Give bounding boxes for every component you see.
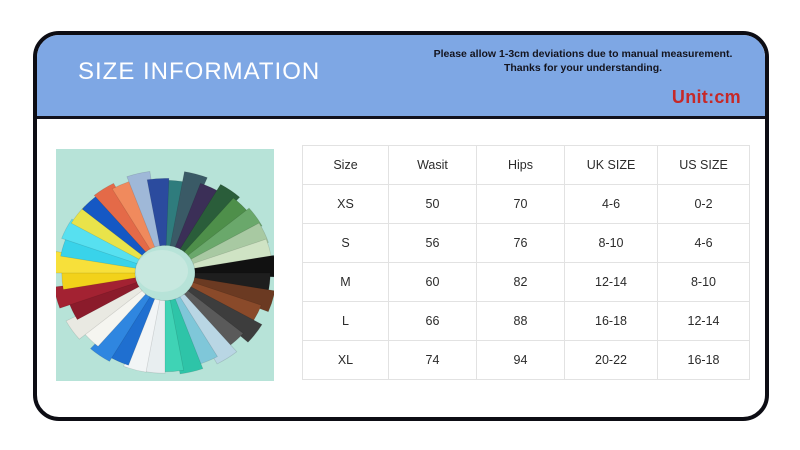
table-row: S 56 76 8-10 4-6 [303, 224, 750, 263]
unit-label: Unit:cm [672, 87, 741, 108]
table-row: XL 74 94 20-22 16-18 [303, 341, 750, 380]
cell-waist: 56 [389, 224, 477, 263]
table-row: M 60 82 12-14 8-10 [303, 263, 750, 302]
cell-hips: 94 [477, 341, 565, 380]
column-header-size: Size [303, 146, 389, 185]
disclaimer-line-1: Please allow 1-3cm deviations due to man… [434, 48, 733, 60]
product-photo [56, 149, 274, 381]
size-chart-frame: SIZE INFORMATION Please allow 1-3cm devi… [33, 31, 769, 421]
cell-waist: 60 [389, 263, 477, 302]
page-title: SIZE INFORMATION [78, 58, 320, 86]
cell-hips: 76 [477, 224, 565, 263]
cell-us: 4-6 [658, 224, 750, 263]
cell-uk: 8-10 [565, 224, 658, 263]
cell-waist: 50 [389, 185, 477, 224]
cell-uk: 16-18 [565, 302, 658, 341]
header-banner: SIZE INFORMATION Please allow 1-3cm devi… [37, 35, 765, 119]
column-header-waist: Wasit [389, 146, 477, 185]
size-table: Size Wasit Hips UK SIZE US SIZE XS 50 70… [302, 145, 750, 380]
cell-us: 0-2 [658, 185, 750, 224]
cell-us: 16-18 [658, 341, 750, 380]
measurement-disclaimer: Please allow 1-3cm deviations due to man… [407, 47, 759, 75]
cell-size: L [303, 302, 389, 341]
cell-waist: 66 [389, 302, 477, 341]
disclaimer-line-2: Thanks for your understanding. [407, 61, 759, 75]
cell-hips: 82 [477, 263, 565, 302]
cell-us: 12-14 [658, 302, 750, 341]
cell-uk: 4-6 [565, 185, 658, 224]
cell-us: 8-10 [658, 263, 750, 302]
cell-size: XS [303, 185, 389, 224]
column-header-us: US SIZE [658, 146, 750, 185]
cell-size: M [303, 263, 389, 302]
cell-hips: 88 [477, 302, 565, 341]
table-header-row: Size Wasit Hips UK SIZE US SIZE [303, 146, 750, 185]
cell-uk: 12-14 [565, 263, 658, 302]
cell-waist: 74 [389, 341, 477, 380]
cell-uk: 20-22 [565, 341, 658, 380]
cell-hips: 70 [477, 185, 565, 224]
column-header-uk: UK SIZE [565, 146, 658, 185]
product-photo-image [56, 149, 274, 381]
cell-size: XL [303, 341, 389, 380]
column-header-hips: Hips [477, 146, 565, 185]
content-area: Size Wasit Hips UK SIZE US SIZE XS 50 70… [37, 119, 765, 417]
cell-size: S [303, 224, 389, 263]
table-row: XS 50 70 4-6 0-2 [303, 185, 750, 224]
table-row: L 66 88 16-18 12-14 [303, 302, 750, 341]
